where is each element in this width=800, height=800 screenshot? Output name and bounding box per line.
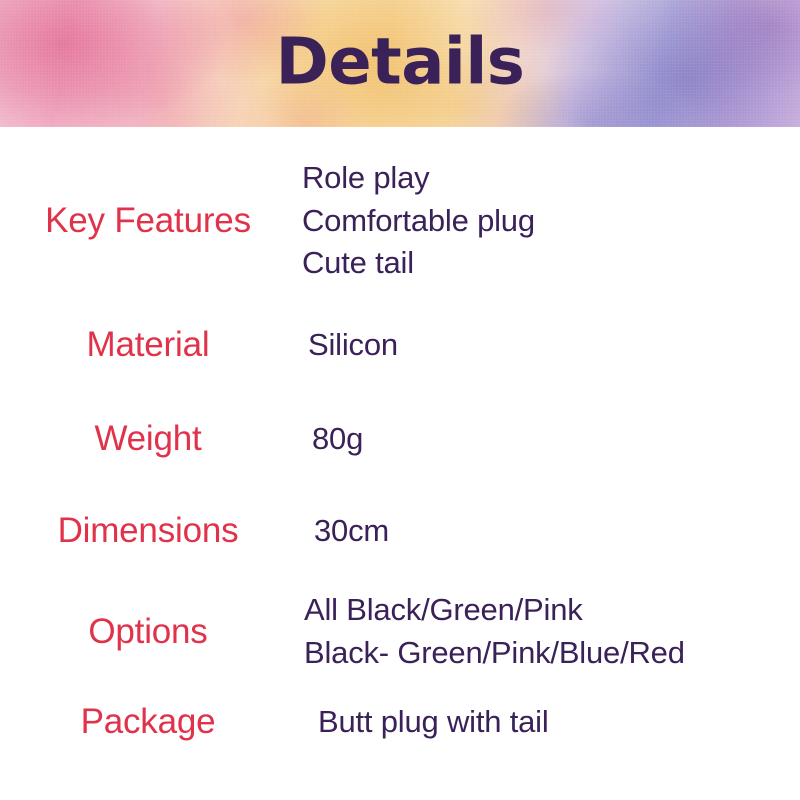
spec-value-dimensions: 30cm — [296, 510, 800, 553]
spec-label-weight: Weight — [0, 419, 296, 460]
spec-value-weight: 80g — [296, 418, 800, 461]
spec-label-dimensions: Dimensions — [0, 511, 296, 552]
product-details-page: Details Key Features Role play Comfortab… — [0, 0, 800, 800]
table-row: Weight 80g — [0, 393, 800, 485]
table-row: Package Butt plug with tail — [0, 687, 800, 757]
spec-label-package: Package — [0, 702, 296, 743]
spec-value-material: Silicon — [296, 324, 800, 367]
table-row: Options All Black/Green/Pink Black- Gree… — [0, 577, 800, 687]
page-header-banner: Details — [0, 0, 800, 127]
spec-label-material: Material — [0, 325, 296, 366]
table-row: Material Silicon — [0, 297, 800, 393]
page-title: Details — [0, 30, 800, 94]
spec-label-key-features: Key Features — [0, 201, 296, 242]
specification-table: Key Features Role play Comfortable plug … — [0, 127, 800, 757]
spec-value-options: All Black/Green/Pink Black- Green/Pink/B… — [296, 589, 800, 675]
spec-value-key-features: Role play Comfortable plug Cute tail — [296, 157, 800, 285]
spec-value-package: Butt plug with tail — [296, 701, 800, 744]
table-row: Key Features Role play Comfortable plug … — [0, 145, 800, 297]
spec-label-options: Options — [0, 612, 296, 653]
table-row: Dimensions 30cm — [0, 485, 800, 577]
